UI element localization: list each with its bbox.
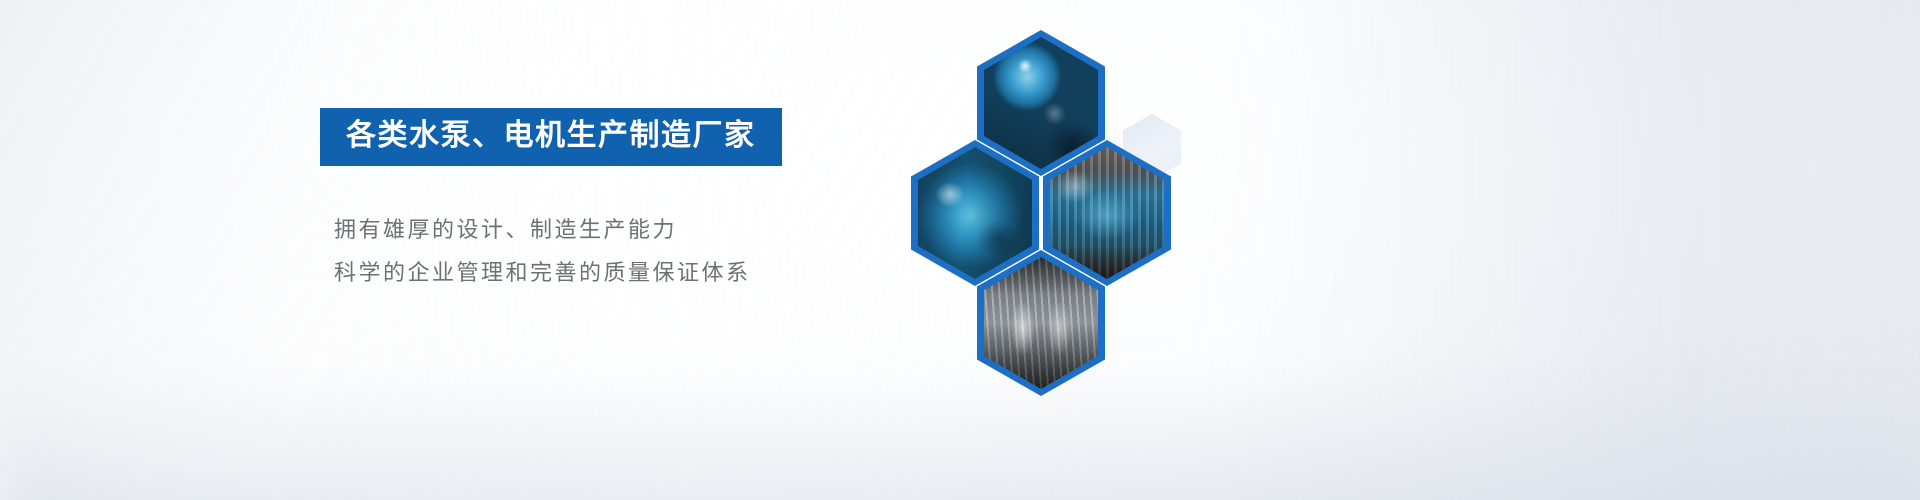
hex-photo-split-case-pump-image <box>918 147 1032 279</box>
hex-gallery <box>905 18 1225 418</box>
sheen-streak-3 <box>1186 0 1920 500</box>
headline-bar: 各类水泵、电机生产制造厂家 <box>320 108 782 166</box>
hex-photo-multistage-pump-image <box>1050 147 1164 279</box>
hex-photo-flange-pump-image <box>984 37 1098 169</box>
pump-photo-submersible <box>984 257 1098 389</box>
banner-stage: 各类水泵、电机生产制造厂家 拥有雄厚的设计、制造生产能力 科学的企业管理和完善的… <box>0 0 1920 500</box>
pump-photo-multistage <box>1050 147 1164 279</box>
hex-photo-submersible-pump-image <box>984 257 1098 389</box>
pump-photo-split-case <box>918 147 1032 279</box>
pump-photo-flange <box>984 37 1098 169</box>
banner-headline: 各类水泵、电机生产制造厂家 <box>346 121 756 151</box>
